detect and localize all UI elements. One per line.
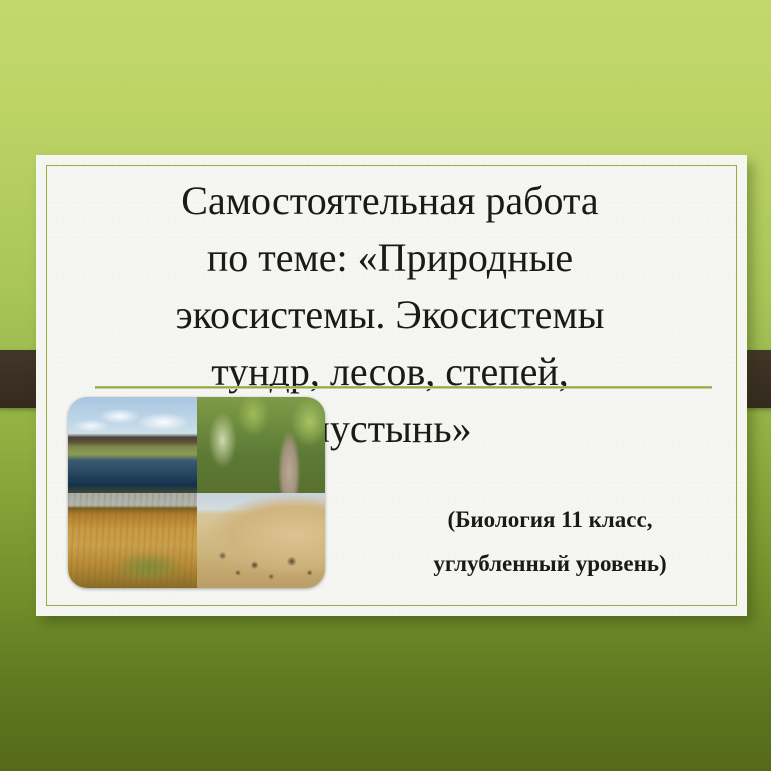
tundra-photo: [68, 397, 197, 493]
forest-photo: [197, 397, 326, 493]
title-divider-line: [95, 386, 712, 389]
ecosystem-photo-collage: [68, 397, 325, 588]
desert-photo: [197, 493, 326, 589]
steppe-photo: [68, 493, 197, 589]
slide-subtitle: (Биология 11 класс, углубленный уровень): [380, 498, 720, 586]
presentation-slide: Самостоятельная работа по теме: «Природн…: [0, 0, 771, 771]
